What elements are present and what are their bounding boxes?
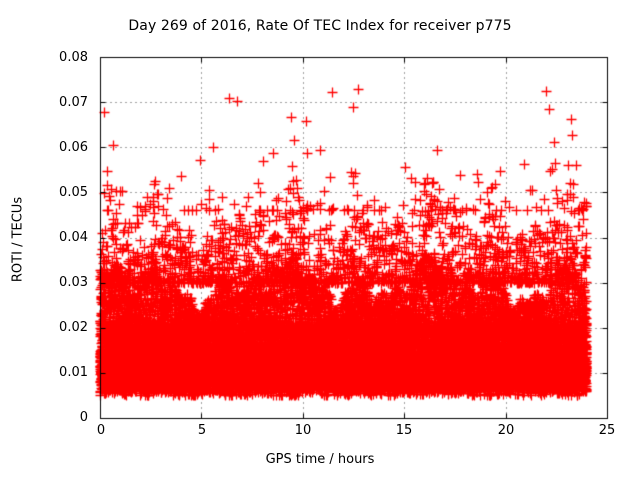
y-axis-label: ROTI / TECUs xyxy=(11,160,26,320)
x-tick-label-10: 10 xyxy=(283,424,323,437)
plot-canvas xyxy=(0,0,640,480)
y-tick-label-0.04: 0.04 xyxy=(28,231,88,244)
y-tick-label-0: 0 xyxy=(28,411,88,424)
x-tick-label-20: 20 xyxy=(486,424,526,437)
x-tick-label-5: 5 xyxy=(182,424,222,437)
x-axis-label: GPS time / hours xyxy=(0,452,640,467)
y-tick-label-0.07: 0.07 xyxy=(28,96,88,109)
x-tick-label-15: 15 xyxy=(384,424,424,437)
y-tick-label-0.06: 0.06 xyxy=(28,141,88,154)
rotI-scatter-plot: Day 269 of 2016, Rate Of TEC Index for r… xyxy=(0,0,640,480)
y-tick-label-0.01: 0.01 xyxy=(28,366,88,379)
x-tick-label-0: 0 xyxy=(81,424,121,437)
x-tick-label-25: 25 xyxy=(587,424,627,437)
y-tick-label-0.03: 0.03 xyxy=(28,276,88,289)
y-tick-label-0.08: 0.08 xyxy=(28,51,88,64)
y-tick-label-0.05: 0.05 xyxy=(28,186,88,199)
y-tick-label-0.02: 0.02 xyxy=(28,321,88,334)
